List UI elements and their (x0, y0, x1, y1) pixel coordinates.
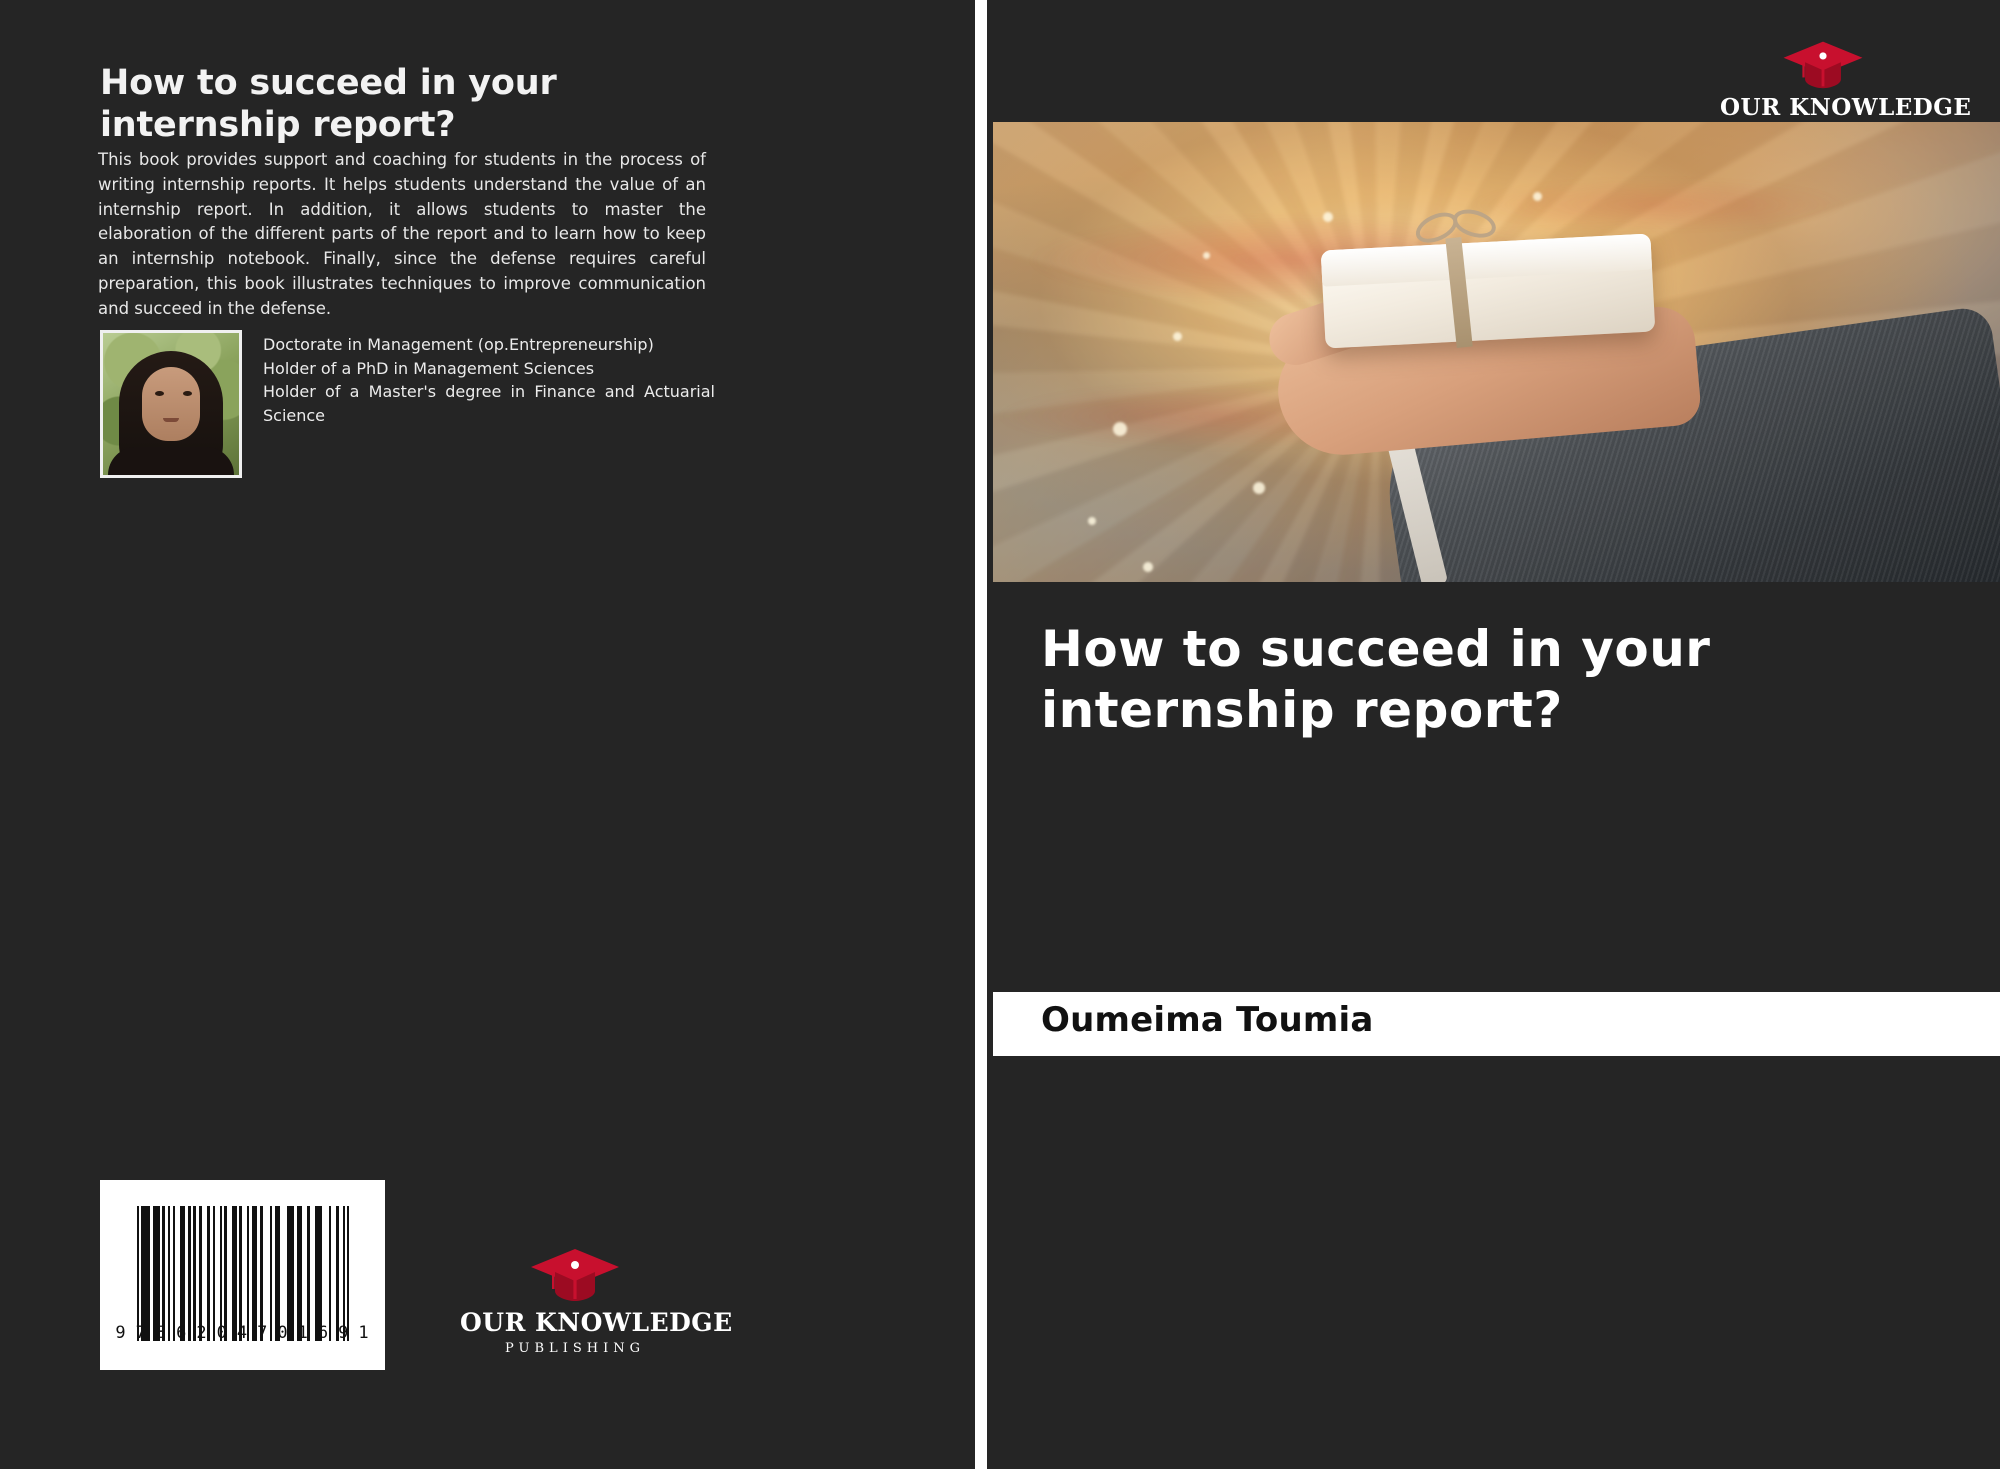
front-title-line-2: internship report? (1041, 680, 1941, 741)
barcode-bars (116, 1206, 369, 1341)
publisher-logo-back: OUR KNOWLEDGE PUBLISHING (460, 1245, 690, 1356)
book-cover-spread: How to succeed in your internship report… (0, 0, 2000, 1469)
graduation-cap-icon (529, 1245, 621, 1303)
front-bottom-band (993, 1056, 2000, 1469)
back-cover-title: How to succeed in your internship report… (100, 62, 720, 146)
front-title-line-1: How to succeed in your (1041, 619, 1941, 680)
back-cover-description: This book provides support and coaching … (98, 148, 706, 321)
bokeh-dot (1088, 517, 1096, 525)
photo-shoulders (108, 447, 234, 475)
author-bio-block: Doctorate in Management (op.Entrepreneur… (100, 330, 720, 478)
graduation-cap-icon (1781, 38, 1865, 90)
gift-box (1321, 233, 1656, 348)
gift-bow (1414, 207, 1502, 251)
isbn-barcode: 9786204701691 (100, 1180, 385, 1370)
credential-line-2: Holder of a PhD in Management Sciences (263, 357, 715, 381)
bokeh-dot (1533, 192, 1542, 201)
publisher-subtitle-back: PUBLISHING (460, 1341, 690, 1356)
publisher-name-front: OUR KNOWLEDGE (1720, 94, 1925, 121)
photo-eye-left (155, 391, 164, 396)
photo-eye-right (183, 391, 192, 396)
front-author-band: Oumeima Toumia (993, 992, 2000, 1056)
front-title-band: How to succeed in your internship report… (993, 589, 2000, 992)
credential-line-1: Doctorate in Management (op.Entrepreneur… (263, 333, 715, 357)
book-spine (975, 0, 987, 1469)
front-cover-author: Oumeima Toumia (1041, 1000, 1374, 1040)
bokeh-dot (1323, 212, 1333, 222)
cover-hero-image (993, 122, 2000, 582)
photo-face (142, 367, 200, 441)
bokeh-dot (1113, 422, 1127, 436)
credential-line-4: Science (263, 404, 715, 428)
bokeh-dot (1203, 252, 1210, 259)
front-cover-title: How to succeed in your internship report… (1041, 619, 1941, 741)
publisher-name-back: OUR KNOWLEDGE (460, 1308, 690, 1337)
bokeh-dot (1173, 332, 1182, 341)
back-cover-panel: How to succeed in your internship report… (0, 0, 975, 1469)
credential-line-3: Holder of a Master's degree in Finance a… (263, 380, 715, 404)
bokeh-dot (1253, 482, 1265, 494)
author-photo (100, 330, 242, 478)
front-cover-panel: OUR KNOWLEDGE PUBLISHING (987, 0, 2000, 1469)
author-credentials: Doctorate in Management (op.Entrepreneur… (263, 330, 715, 428)
photo-mouth (163, 418, 179, 422)
bokeh-dot (1143, 562, 1153, 572)
